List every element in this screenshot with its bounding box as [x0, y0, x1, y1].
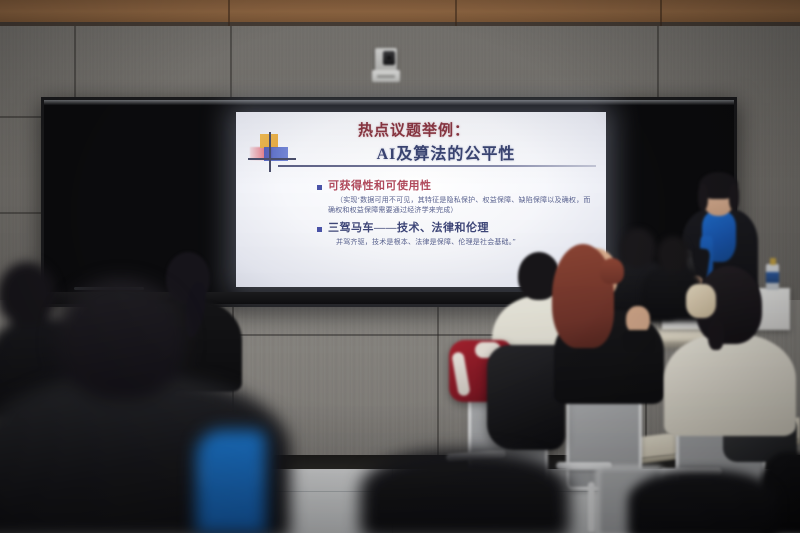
bullet-heading: 三驾马车——技术、法律和伦理: [328, 222, 594, 236]
wood-seam: [660, 0, 662, 26]
student-red-hair: [548, 244, 664, 404]
presenter-hair-side: [698, 184, 708, 210]
bullet-subtext: （实现‘数据可用不可见，其特征是隐私保护、权益保障、缺陷保障以及确权，而确权和权…: [328, 195, 594, 216]
student-foreground-right: [628, 470, 778, 533]
cabinet-seam: [437, 300, 439, 455]
slide-title-rule: [278, 165, 596, 167]
wood-seam: [228, 0, 230, 26]
wood-seam: [455, 0, 457, 26]
camera-body: [375, 48, 397, 71]
surveillance-camera: [372, 48, 400, 82]
bullet-heading: 可获得性和可使用性: [328, 180, 594, 194]
bullet-marker-icon: [317, 227, 322, 232]
presenter-hair-side: [729, 184, 739, 210]
chair-post: [588, 482, 595, 532]
student-hair-fringe: [600, 258, 624, 284]
slide-bullet-item: 可获得性和可使用性 （实现‘数据可用不可见，其特征是隐私保护、权益保障、缺陷保障…: [328, 180, 594, 216]
motif-vertical-line: [269, 132, 271, 172]
camera-lens-icon: [383, 51, 395, 65]
display-top-highlight: [44, 100, 734, 105]
student-torso: [628, 470, 778, 533]
student-hair-bun: [708, 320, 724, 350]
hair-clip: [686, 284, 716, 318]
motif-horizontal-line: [248, 158, 296, 160]
student-foreground-center: [360, 450, 570, 533]
camera-mount: [372, 70, 400, 82]
backpack-strap: [451, 351, 470, 396]
student-head: [54, 278, 188, 400]
wall-panel-seam: [230, 26, 232, 100]
student-sleeve-cuff: [622, 330, 656, 352]
slide-bullet-list: 可获得性和可使用性 （实现‘数据可用不可见，其特征是隐私保护、权益保障、缺陷保障…: [328, 180, 594, 253]
student-torso: [664, 334, 796, 436]
bottle-cap: [770, 258, 776, 265]
student-cream-sweater-right: [664, 266, 796, 436]
upper-wood-wall-band: [0, 0, 800, 26]
blue-bag-foreground: [196, 430, 266, 533]
bullet-marker-icon: [317, 185, 322, 190]
slide-subtitle: AI及算法的公平性: [296, 140, 596, 164]
classroom-photo: 热点议题举例： AI及算法的公平性 可获得性和可使用性 （实现‘数据可用不可见，…: [0, 0, 800, 533]
student-torso: [360, 450, 570, 533]
